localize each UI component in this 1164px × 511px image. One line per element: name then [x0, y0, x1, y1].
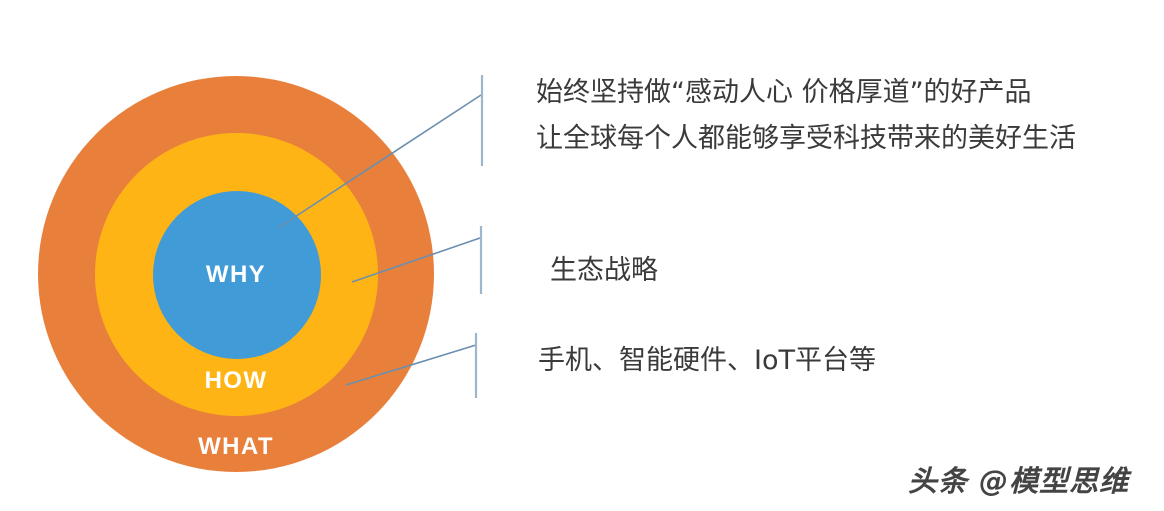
callout-how-line-1: 生态战略 [550, 248, 658, 294]
ring-label-what: WHAT [38, 433, 434, 461]
callout-why-line-2: 让全球每个人都能够享受科技带来的美好生活 [536, 116, 1076, 162]
ring-label-how: HOW [38, 367, 434, 395]
ring-label-why: WHY [38, 261, 434, 289]
diagram-canvas: WHY HOW WHAT 始终坚持做“感动人心 价格厚道”的好产品 让全球每个人… [0, 0, 1164, 511]
callout-what: 手机、智能硬件、IoT平台等 [538, 338, 876, 384]
watermark: 头条 @模型思维 [908, 458, 1129, 500]
callout-how: 生态战略 [550, 248, 658, 294]
callout-what-line-1: 手机、智能硬件、IoT平台等 [538, 338, 876, 384]
callout-why-line-1: 始终坚持做“感动人心 价格厚道”的好产品 [536, 70, 1076, 116]
callout-why: 始终坚持做“感动人心 价格厚道”的好产品 让全球每个人都能够享受科技带来的美好生… [536, 70, 1076, 162]
